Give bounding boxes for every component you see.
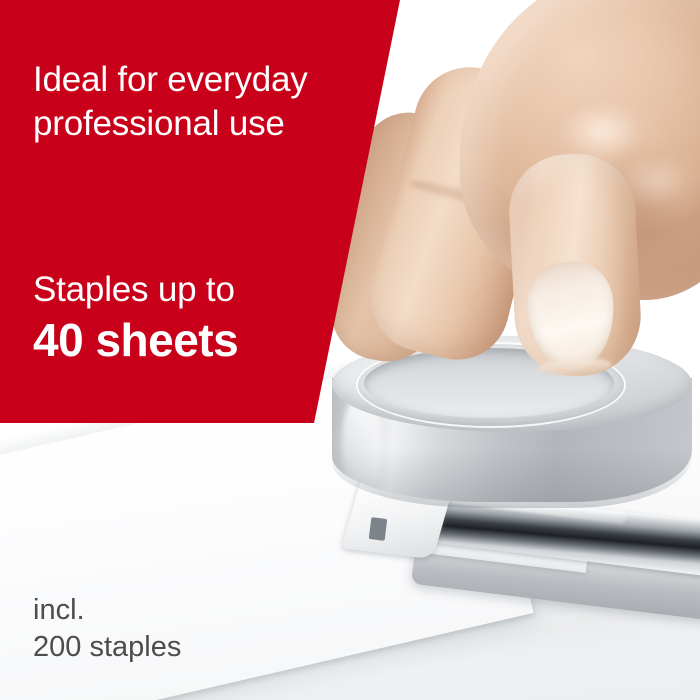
subheadline: Staples up to 40 sheets [33, 268, 238, 368]
caption-line-2: 200 staples [33, 631, 181, 663]
caption-line-1: incl. [33, 594, 85, 626]
headline-line-2: professional use [33, 104, 285, 143]
product-poster: A hand pressing down on a grey stapler s… [0, 0, 700, 700]
headline: Ideal for everyday professional use [33, 58, 363, 146]
included-staples-caption: incl. 200 staples [33, 592, 181, 666]
stapler-nose-notch [369, 517, 388, 541]
subheadline-line-1: Staples up to [33, 270, 235, 309]
headline-line-1: Ideal for everyday [33, 60, 308, 99]
hand [420, 0, 700, 410]
sheet-capacity-value: 40 sheets [33, 312, 238, 368]
